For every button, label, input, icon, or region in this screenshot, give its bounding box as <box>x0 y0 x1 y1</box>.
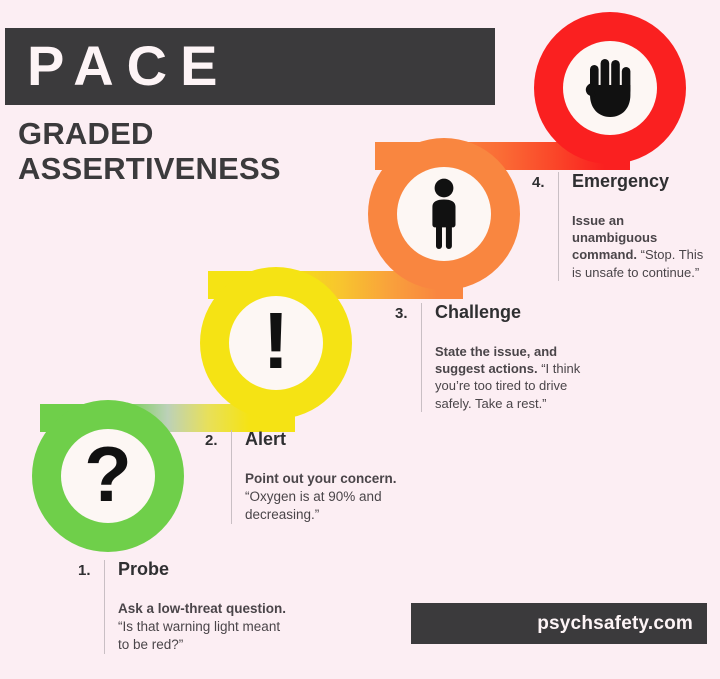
step-ring-challenge <box>368 138 520 290</box>
step-alert-divider <box>231 430 232 450</box>
step-ring-probe-center: ? <box>61 429 155 523</box>
step-probe-body-bold: Ask a low-threat question. <box>118 601 286 616</box>
step-probe-body: Ask a low-threat question. “Is that warn… <box>118 600 293 654</box>
step-text-emergency: 4. Emergency Issue an unambiguous comman… <box>532 172 712 281</box>
step-text-alert: 2. Alert Point out your concern. “Oxygen… <box>205 430 410 524</box>
website-label[interactable]: psychsafety.com <box>537 613 693 635</box>
step-alert-spacer <box>245 450 410 470</box>
exclamation-mark-icon: ! <box>263 301 290 381</box>
step-challenge-heading: 3. Challenge <box>395 303 590 323</box>
step-challenge-body-inner: State the issue, and suggest actions. “I… <box>435 323 590 412</box>
step-emergency-number: 4. <box>532 172 558 191</box>
step-emergency-body-inner: Issue an unambiguous command. “Stop. Thi… <box>572 192 712 281</box>
step-challenge-name: Challenge <box>435 303 521 323</box>
step-emergency-body-wrap: Issue an unambiguous command. “Stop. Thi… <box>532 192 712 281</box>
step-alert-heading: 2. Alert <box>205 430 410 450</box>
question-mark-icon: ? <box>84 435 132 513</box>
step-alert-name: Alert <box>245 430 286 450</box>
step-probe-divider <box>104 560 105 580</box>
step-probe-name: Probe <box>118 560 169 580</box>
step-challenge-body-wrap: State the issue, and suggest actions. “I… <box>395 323 590 412</box>
step-probe-spacer <box>118 580 293 600</box>
step-alert-body-wrap: Point out your concern. “Oxygen is at 90… <box>205 450 410 524</box>
step-alert-body-rest: “Oxygen is at 90% and decreasing.” <box>245 489 382 522</box>
step-probe-body-wrap: Ask a low-threat question. “Is that warn… <box>78 580 293 654</box>
step-alert-body-bold: Point out your concern. <box>245 471 397 486</box>
step-text-challenge: 3. Challenge State the issue, and sugges… <box>395 303 590 412</box>
step-probe-body-inner: Ask a low-threat question. “Is that warn… <box>118 580 293 654</box>
step-alert-body-inner: Point out your concern. “Oxygen is at 90… <box>245 450 410 524</box>
step-ring-probe: ? <box>32 400 184 552</box>
step-challenge-spacer <box>435 323 590 343</box>
step-probe-number: 1. <box>78 560 104 579</box>
step-ring-alert: ! <box>200 267 352 419</box>
step-probe-body-divider <box>104 580 105 654</box>
step-challenge-body: State the issue, and suggest actions. “I… <box>435 343 590 412</box>
step-text-probe: 1. Probe Ask a low-threat question. “Is … <box>78 560 293 654</box>
step-ring-emergency-center <box>563 41 657 135</box>
step-emergency-body-divider <box>558 192 559 281</box>
step-alert-body: Point out your concern. “Oxygen is at 90… <box>245 470 410 524</box>
step-emergency-name: Emergency <box>572 172 669 192</box>
person-standing-icon <box>422 178 466 250</box>
step-challenge-divider <box>421 303 422 323</box>
step-alert-number: 2. <box>205 430 231 449</box>
step-ring-alert-center: ! <box>229 296 323 390</box>
step-emergency-divider <box>558 172 559 192</box>
step-emergency-heading: 4. Emergency <box>532 172 712 192</box>
step-challenge-body-divider <box>421 323 422 412</box>
infographic-canvas: PACE GRADED ASSERTIVENESS ? ! <box>0 0 720 679</box>
step-challenge-number: 3. <box>395 303 421 322</box>
step-ring-emergency <box>534 12 686 164</box>
step-alert-body-divider <box>231 450 232 524</box>
footer-bar: psychsafety.com <box>411 603 707 644</box>
step-ring-challenge-center <box>397 167 491 261</box>
step-probe-heading: 1. Probe <box>78 560 293 580</box>
stop-hand-icon <box>581 55 639 121</box>
step-emergency-body: Issue an unambiguous command. “Stop. Thi… <box>572 212 712 281</box>
step-probe-body-rest: “Is that warning light meant to be red?” <box>118 619 280 652</box>
step-emergency-spacer <box>572 192 712 212</box>
